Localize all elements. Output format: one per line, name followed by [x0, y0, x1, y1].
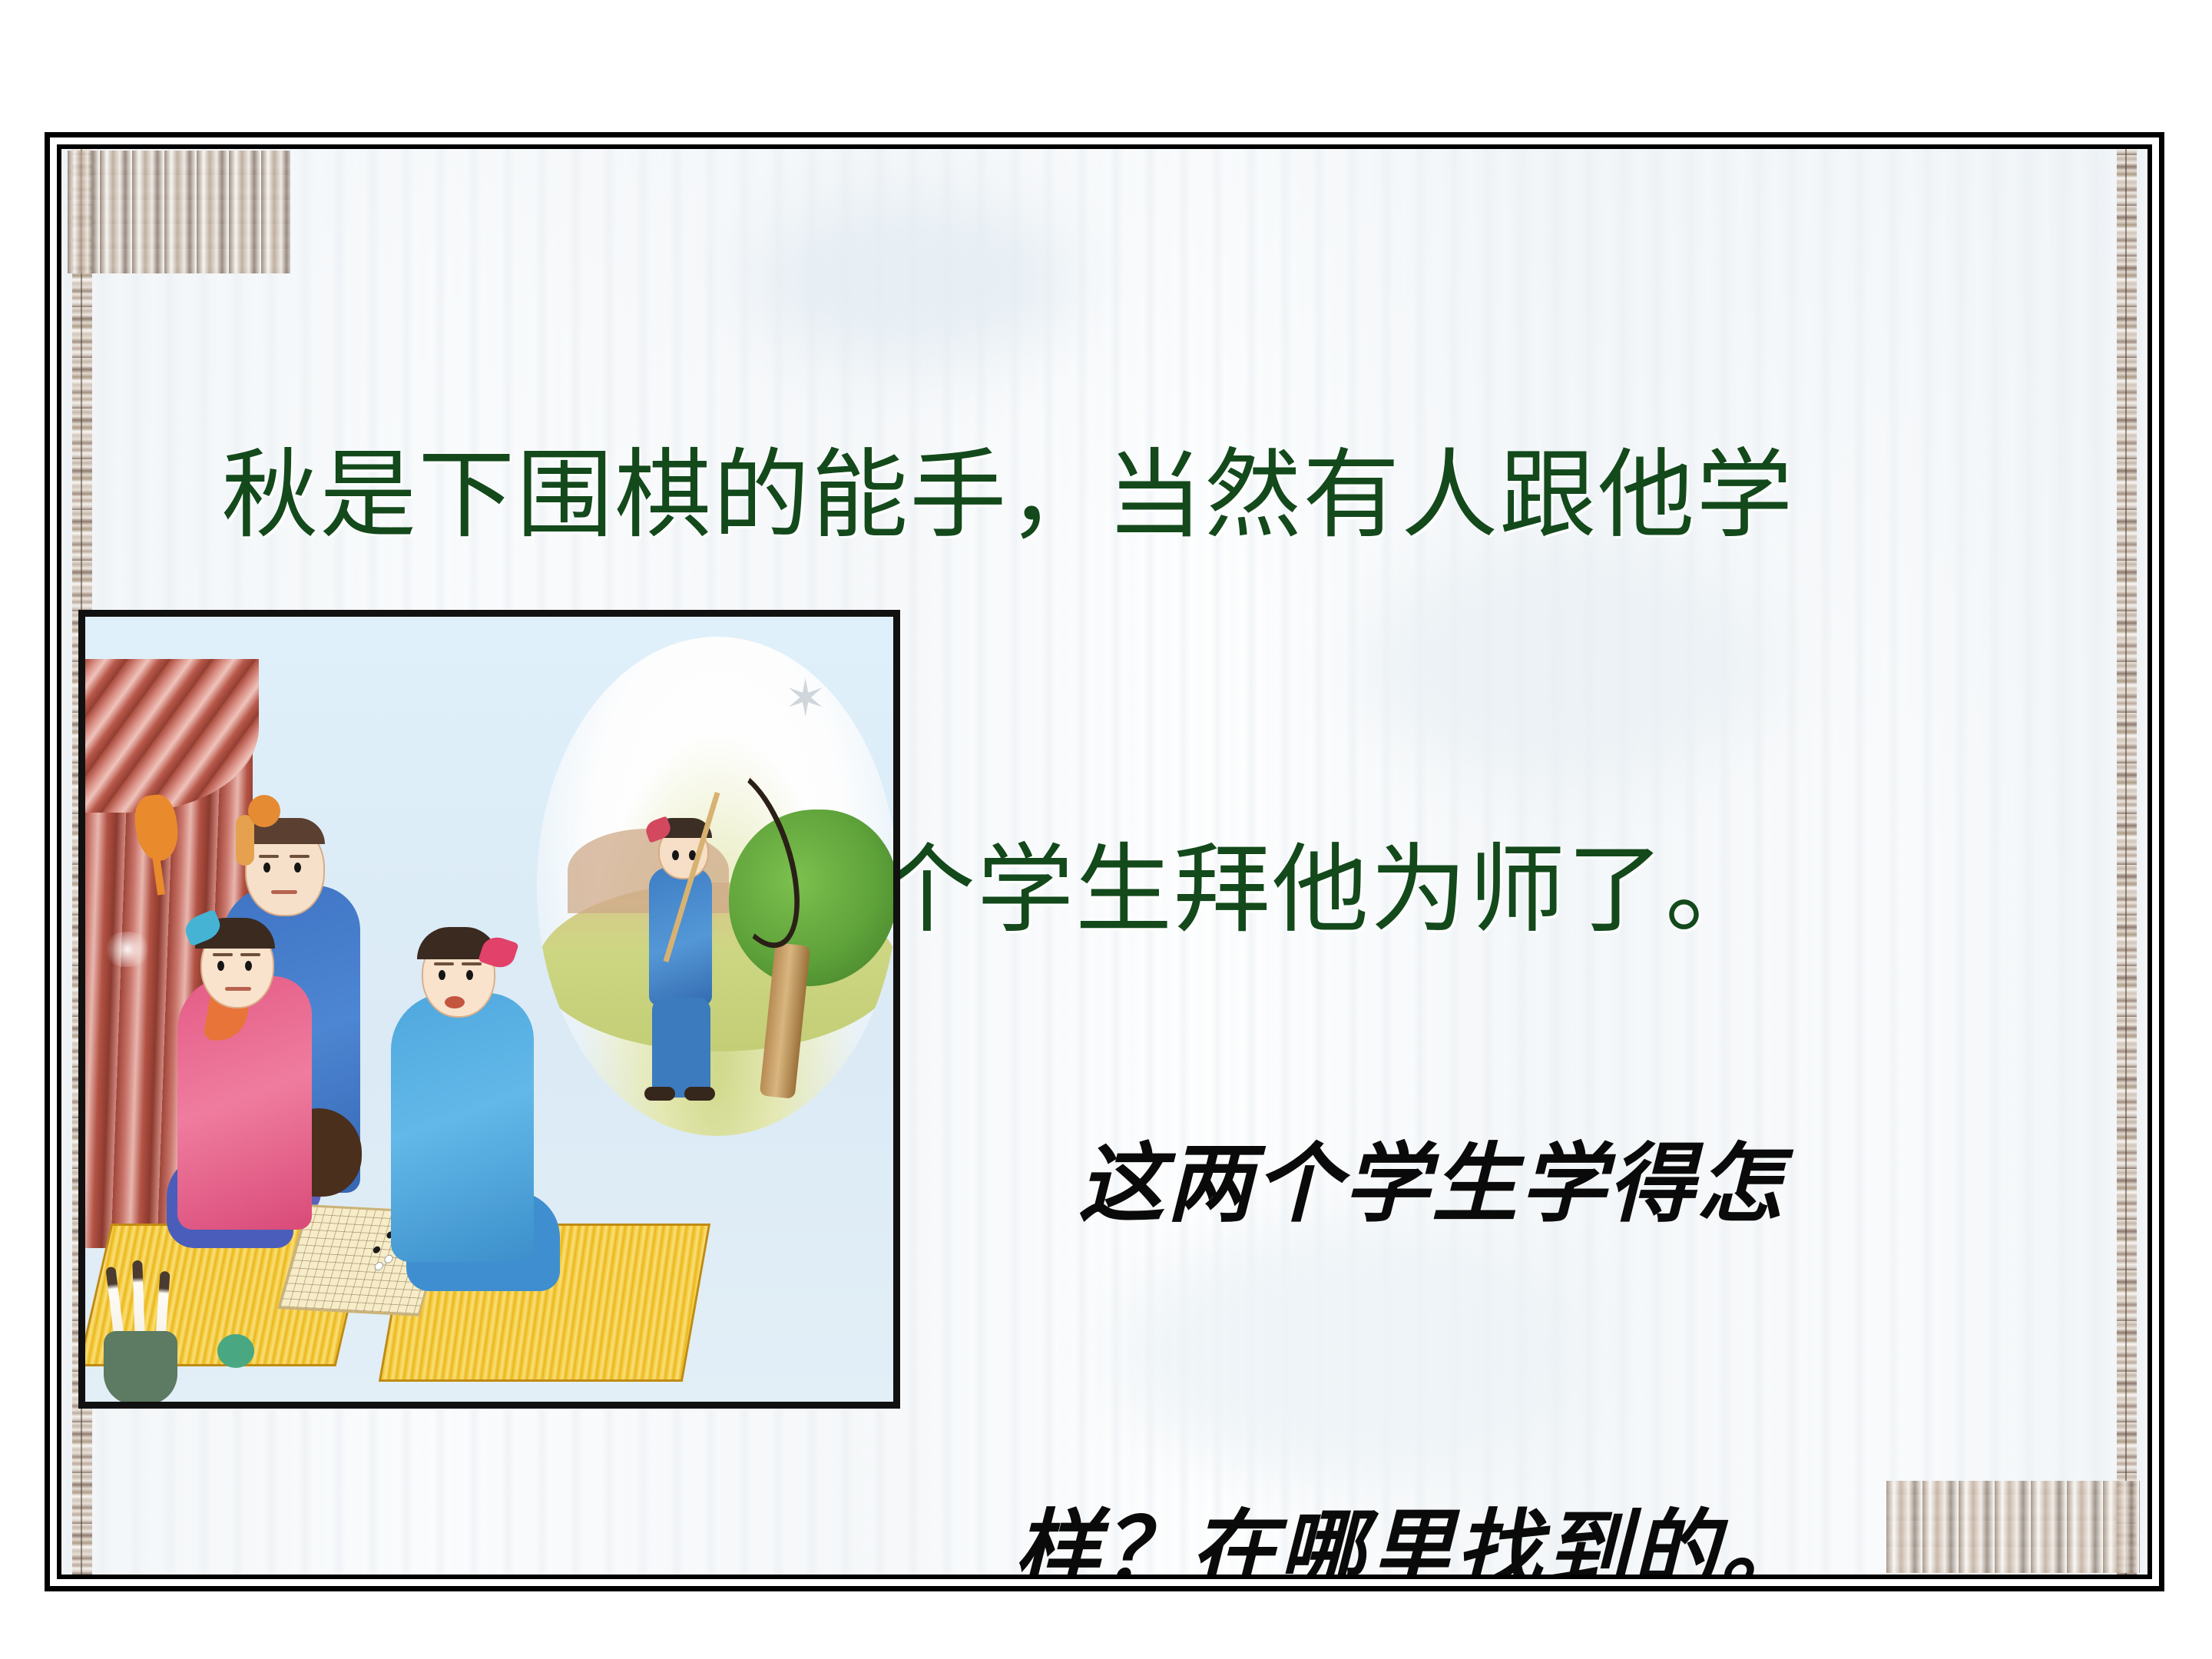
teacher-mouth: [271, 890, 297, 894]
illustration-image: ✶: [78, 610, 900, 1409]
archer-legs: [652, 998, 710, 1098]
question-text: 这两个学生学得怎 样？在哪里找到的。: [1014, 879, 2112, 1579]
slide-outer-border: 秋是下围棋的能手，当然有人跟他学 棋了，这不，有两个学生拜他为师了。 这两个学生…: [45, 132, 2164, 1591]
go-stone: [373, 1246, 381, 1253]
question-line-1: 这两个学生学得怎: [1014, 1123, 2112, 1245]
go-stone: [383, 1254, 394, 1263]
brush-pot: [104, 1331, 177, 1405]
student-pink-eye-right: [245, 961, 252, 971]
student-blue-brow-right: [462, 962, 482, 965]
teacher-brow-right: [290, 855, 310, 858]
student-blue-eye-right: [466, 970, 473, 980]
archer-shoe-left: [644, 1087, 675, 1101]
student-blue-mouth: [445, 996, 465, 1008]
question-line-2: 样？在哪里找到的。: [1014, 1489, 2112, 1579]
student-blue-robe: [391, 993, 534, 1262]
slide-inner-panel: 秋是下围棋的能手，当然有人跟他学 棋了，这不，有两个学生拜他为师了。 这两个学生…: [57, 144, 2152, 1579]
student-blue-brow-left: [434, 962, 454, 965]
student-pink-mouth: [225, 987, 251, 991]
archer-eye-left: [672, 850, 679, 860]
student-blue-eye-left: [439, 970, 445, 980]
student-pink-brow-right: [240, 953, 260, 956]
narration-line-1: 秋是下围棋的能手，当然有人跟他学: [92, 429, 2120, 561]
teacher-hair-side: [236, 815, 254, 866]
green-bowl: [217, 1334, 254, 1368]
slide-canvas: 秋是下围棋的能手，当然有人跟他学 棋了，这不，有两个学生拜他为师了。 这两个学生…: [0, 0, 2212, 1659]
teacher-brow-left: [259, 855, 279, 858]
student-pink-eye-left: [217, 961, 224, 971]
swan-bird-icon: ✶: [784, 674, 853, 724]
teacher-eye-left: [263, 863, 270, 873]
archer-body: [649, 867, 712, 1005]
incense-smoke: [102, 932, 153, 967]
illustration-scene: ✶: [85, 617, 893, 1402]
student-pink-brow-left: [213, 953, 233, 956]
archer-shoe-right: [684, 1087, 715, 1101]
teacher-topknot: [248, 795, 280, 827]
go-stone: [373, 1262, 384, 1271]
teacher-eye-right: [294, 863, 301, 873]
thought-bubble: ✶: [537, 637, 898, 1136]
